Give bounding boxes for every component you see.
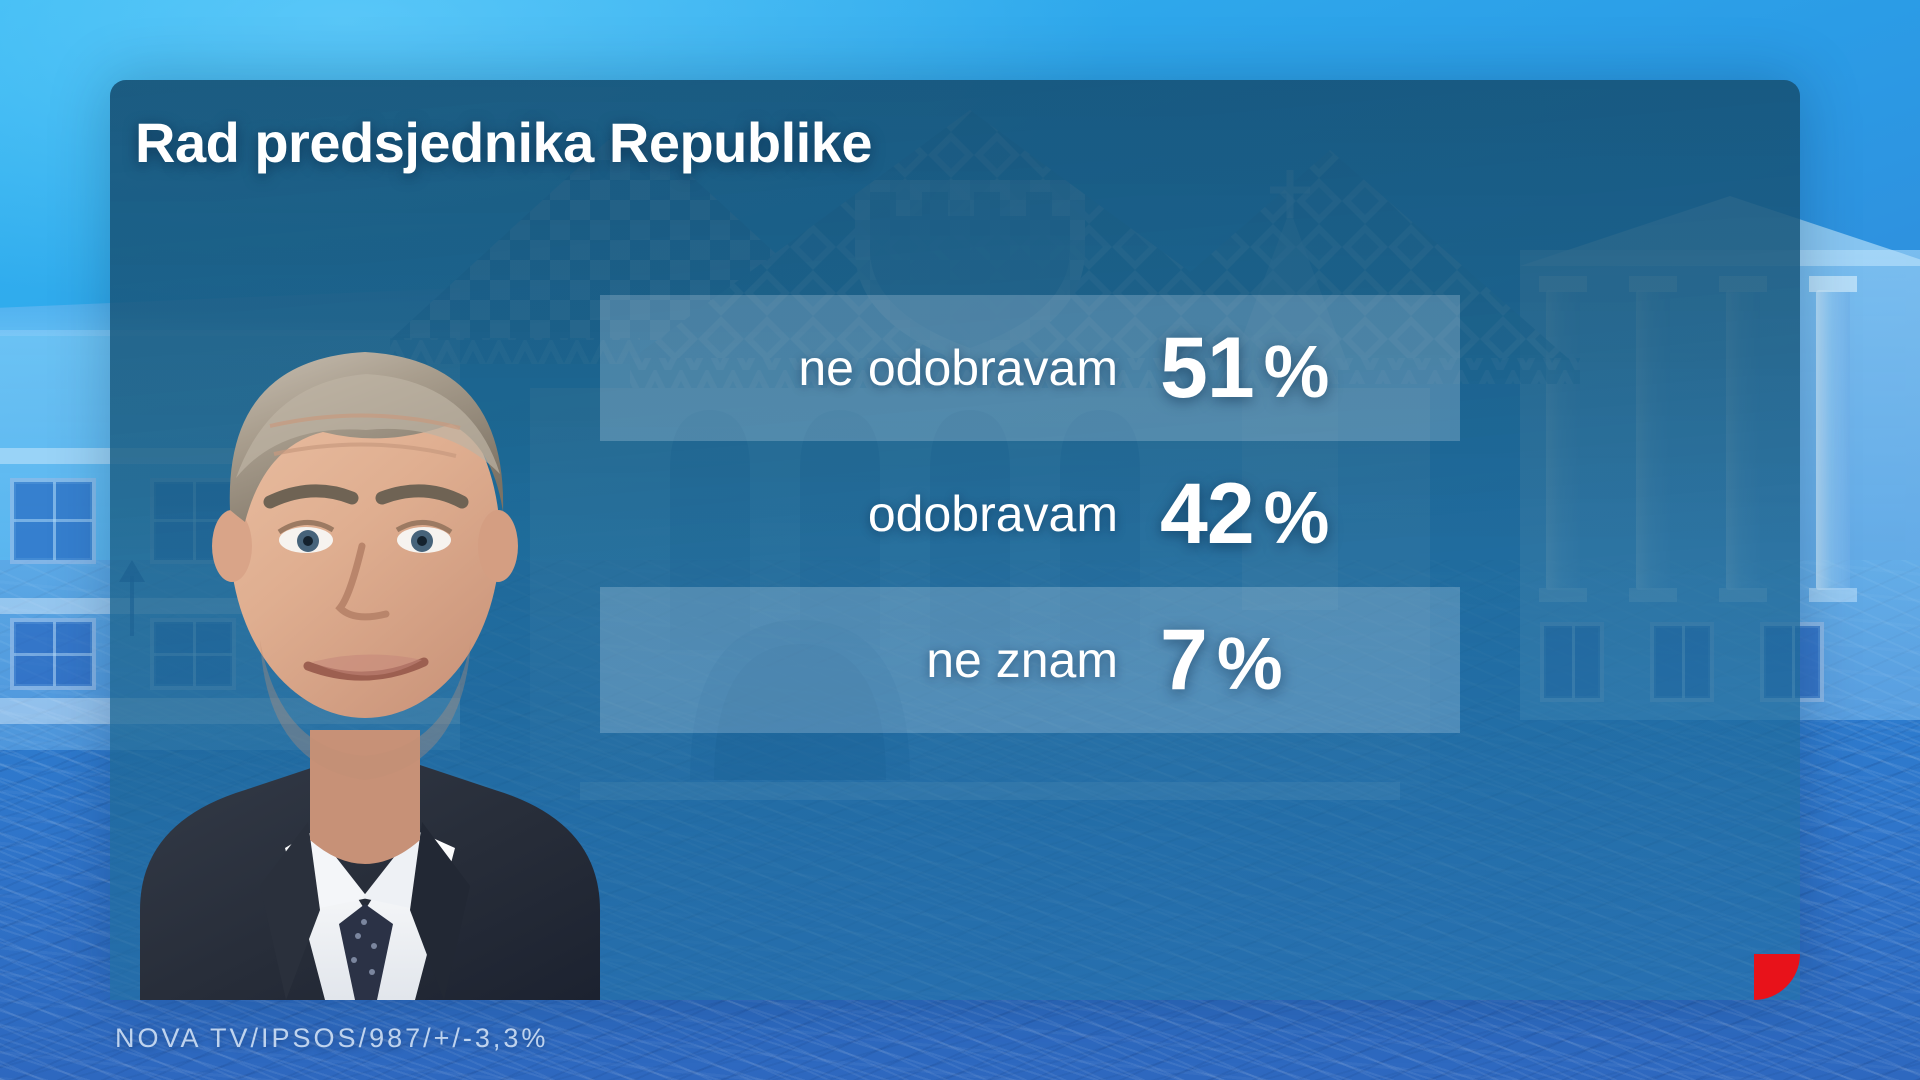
percent-symbol: % [1217,622,1282,705]
result-number: 51 [1160,320,1254,416]
result-value: 51% [1160,319,1460,418]
result-label: ne odobravam [600,339,1160,397]
result-value: 42% [1160,465,1460,564]
result-value: 7% [1160,611,1460,710]
table-row: odobravam 42% [600,441,1460,587]
result-number: 42 [1160,466,1254,562]
source-credit: NOVA TV/IPSOS/987/+/-3,3% [115,1023,548,1054]
percent-symbol: % [1264,330,1329,413]
percent-symbol: % [1264,476,1329,559]
result-label: odobravam [600,485,1160,543]
right-building-column [1816,290,1850,590]
table-row: ne odobravam 51% [600,295,1460,441]
page-title: Rad predsjednika Republike [135,110,872,175]
left-building-window [10,478,96,564]
result-number: 7 [1160,612,1207,708]
poll-results-table: ne odobravam 51% odobravam 42% ne znam 7… [600,295,1460,735]
graphic-panel: Rad predsjednika Republike [110,80,1800,1000]
result-label: ne znam [600,631,1160,689]
left-building-window [10,618,96,690]
president-portrait [110,210,620,1000]
table-row: ne znam 7% [600,587,1460,733]
